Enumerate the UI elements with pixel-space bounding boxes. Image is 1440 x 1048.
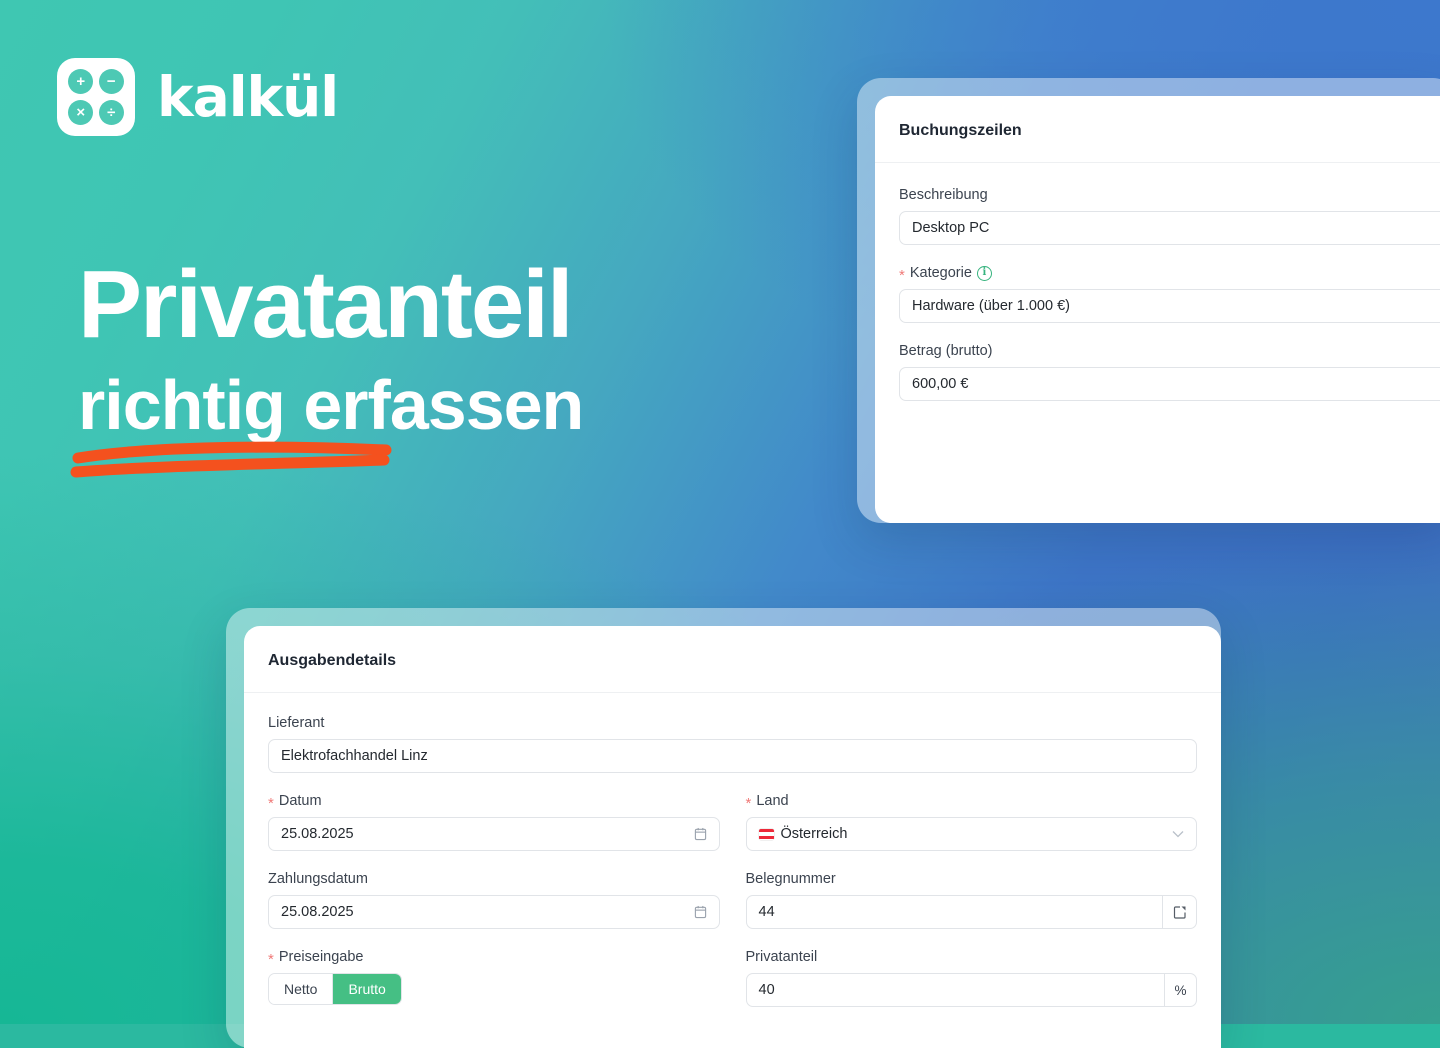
required-marker: * — [268, 796, 274, 811]
field-lieferant: Lieferant Elektrofachhandel Linz — [268, 715, 1197, 773]
amount-gross-value: 600,00 € — [912, 376, 968, 392]
field-datum: * Datum 25.08.2025 — [268, 793, 720, 851]
hand-drawn-underline-icon — [70, 436, 400, 482]
date-value: 25.08.2025 — [281, 826, 354, 842]
multiply-icon: × — [68, 100, 93, 125]
private-share-value: 40 — [759, 982, 775, 998]
receipt-number-value: 44 — [759, 904, 775, 920]
chevron-down-icon[interactable] — [1172, 830, 1184, 838]
minus-icon: − — [99, 69, 124, 94]
booking-lines-card: Buchungszeilen Beschreibung Desktop PC *… — [875, 96, 1440, 523]
receipt-number-input[interactable]: 44 — [746, 895, 1198, 929]
edit-square-icon[interactable] — [1162, 896, 1196, 928]
label-text: Kategorie — [910, 265, 972, 281]
payment-date-value: 25.08.2025 — [281, 904, 354, 920]
field-label-privatanteil: Privatanteil — [746, 949, 1198, 965]
label-text: Beschreibung — [899, 187, 988, 203]
expense-details-card-title: Ausgabendetails — [244, 626, 1221, 693]
field-label-datum: * Datum — [268, 793, 720, 809]
country-value: Österreich — [781, 826, 848, 842]
field-land: * Land Österreich — [746, 793, 1198, 851]
price-entry-option-netto[interactable]: Netto — [269, 974, 332, 1004]
hero-text-block: Privatanteil richtig erfassen — [78, 258, 838, 440]
field-label-lieferant: Lieferant — [268, 715, 1197, 731]
calendar-icon[interactable] — [694, 905, 707, 919]
field-belegnummer: Belegnummer 44 — [746, 871, 1198, 929]
field-label-zahlungsdatum: Zahlungsdatum — [268, 871, 720, 887]
required-marker: * — [899, 268, 905, 283]
brand-logo: + − × ÷ kalkül — [57, 58, 338, 136]
supplier-value: Elektrofachhandel Linz — [281, 748, 428, 764]
label-text: Privatanteil — [746, 949, 818, 965]
supplier-input[interactable]: Elektrofachhandel Linz — [268, 739, 1197, 773]
info-circle-icon[interactable]: i — [977, 266, 992, 281]
booking-lines-card-frame: Buchungszeilen Beschreibung Desktop PC *… — [857, 78, 1440, 523]
category-value: Hardware (über 1.000 €) — [912, 298, 1070, 314]
plus-icon: + — [68, 69, 93, 94]
austria-flag-icon — [759, 829, 774, 840]
amount-gross-input[interactable]: 600,00 € — [899, 367, 1440, 401]
required-marker: * — [268, 952, 274, 967]
price-entry-option-brutto[interactable]: Brutto — [332, 974, 400, 1004]
expense-details-card-frame: Ausgabendetails Lieferant Elektrofachhan… — [226, 608, 1221, 1048]
row-preiseingabe-privatanteil: * Preiseingabe Netto Brutto Privatanteil… — [268, 949, 1197, 1027]
label-text: Betrag (brutto) — [899, 343, 993, 359]
field-betrag-brutto: Betrag (brutto) 600,00 € — [899, 343, 1440, 401]
private-share-input[interactable]: 40 % — [746, 973, 1198, 1007]
label-text: Land — [756, 793, 788, 809]
percent-suffix: % — [1164, 974, 1196, 1006]
country-select[interactable]: Österreich — [746, 817, 1198, 851]
field-label-betrag-brutto: Betrag (brutto) — [899, 343, 1440, 359]
row-zahlungsdatum-belegnummer: Zahlungsdatum 25.08.2025 — [268, 871, 1197, 949]
field-preiseingabe: * Preiseingabe Netto Brutto — [268, 949, 720, 1007]
field-kategorie: * Kategorie i Hardware (über 1.000 €) — [899, 265, 1440, 323]
description-value: Desktop PC — [912, 220, 989, 236]
label-text: Lieferant — [268, 715, 324, 731]
field-label-beschreibung: Beschreibung — [899, 187, 1440, 203]
field-label-kategorie: * Kategorie i — [899, 265, 1440, 281]
hero-subheadline: richtig erfassen — [78, 370, 798, 440]
price-entry-toggle[interactable]: Netto Brutto — [268, 973, 402, 1005]
label-text: Datum — [279, 793, 322, 809]
calculator-icon: + − × ÷ — [57, 58, 135, 136]
hero-headline: Privatanteil — [78, 258, 838, 352]
field-beschreibung: Beschreibung Desktop PC — [899, 187, 1440, 245]
date-input[interactable]: 25.08.2025 — [268, 817, 720, 851]
field-privatanteil: Privatanteil 40 % — [746, 949, 1198, 1007]
field-label-land: * Land — [746, 793, 1198, 809]
field-label-belegnummer: Belegnummer — [746, 871, 1198, 887]
payment-date-input[interactable]: 25.08.2025 — [268, 895, 720, 929]
booking-lines-card-title: Buchungszeilen — [875, 96, 1440, 163]
label-text: Preiseingabe — [279, 949, 364, 965]
label-text: Zahlungsdatum — [268, 871, 368, 887]
expense-details-card: Ausgabendetails Lieferant Elektrofachhan… — [244, 626, 1221, 1048]
calendar-icon[interactable] — [694, 827, 707, 841]
description-input[interactable]: Desktop PC — [899, 211, 1440, 245]
brand-wordmark: kalkül — [157, 65, 338, 129]
category-input[interactable]: Hardware (über 1.000 €) — [899, 289, 1440, 323]
field-zahlungsdatum: Zahlungsdatum 25.08.2025 — [268, 871, 720, 929]
row-datum-land: * Datum 25.08.2025 — [268, 793, 1197, 871]
required-marker: * — [746, 796, 752, 811]
divide-icon: ÷ — [99, 100, 124, 125]
label-text: Belegnummer — [746, 871, 836, 887]
field-label-preiseingabe: * Preiseingabe — [268, 949, 720, 965]
